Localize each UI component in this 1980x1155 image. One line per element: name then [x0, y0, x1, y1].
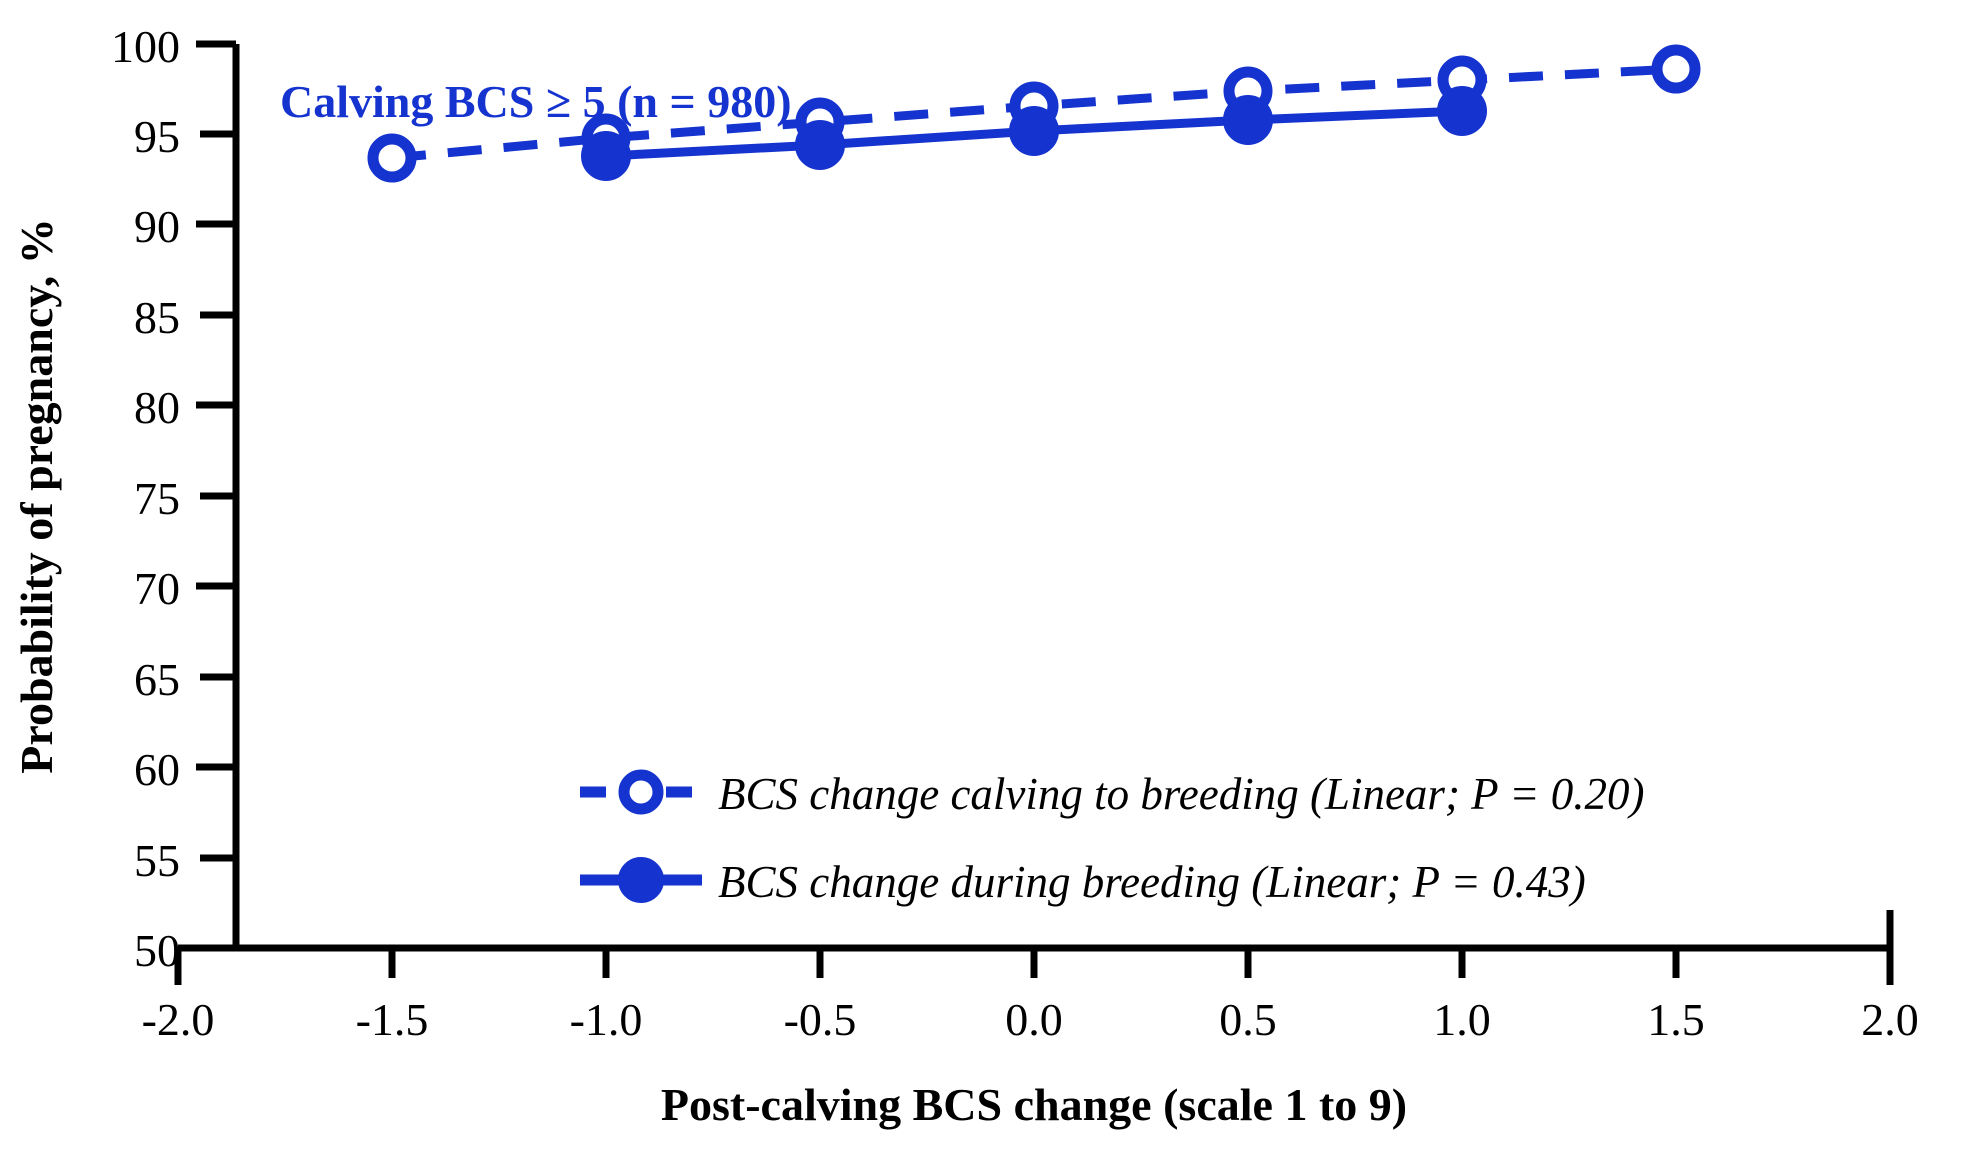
y-tick-label: 50 [134, 925, 180, 976]
x-tick-label: 0.5 [1219, 994, 1277, 1045]
legend-open-circle-icon [624, 775, 658, 809]
y-tick-label: 100 [111, 21, 180, 72]
y-tick-label: 70 [134, 563, 180, 614]
x-axis-ticks [178, 948, 1890, 985]
y-tick-label: 75 [134, 473, 180, 524]
legend-filled-circle-icon [621, 860, 661, 900]
panel-title: Calving BCS ≥ 5 (n = 980) [280, 76, 792, 127]
x-tick-label: -0.5 [784, 994, 857, 1045]
x-tick-label: -1.5 [356, 994, 429, 1045]
chart-legend: BCS change calving to breeding (Linear; … [580, 769, 1644, 907]
x-tick-label: -1.0 [570, 994, 643, 1045]
legend-item-calving-to-breeding[interactable]: BCS change calving to breeding (Linear; … [580, 769, 1644, 819]
y-tick-label: 90 [134, 201, 180, 252]
line-chart-canvas: 100 95 90 85 80 75 70 65 60 55 50 -2.0 -… [0, 0, 1980, 1155]
x-tick-label: 1.0 [1433, 994, 1491, 1045]
y-tick-label: 85 [134, 292, 180, 343]
x-axis-title: Post-calving BCS change (scale 1 to 9) [661, 1079, 1407, 1130]
y-tick-label: 80 [134, 382, 180, 433]
x-tick-label: -2.0 [142, 994, 215, 1045]
y-axis-ticks [196, 44, 236, 948]
y-tick-label: 95 [134, 111, 180, 162]
y-tick-labels: 100 95 90 85 80 75 70 65 60 55 50 [111, 21, 180, 976]
x-tick-label: 2.0 [1861, 994, 1919, 1045]
chart-figure: 100 95 90 85 80 75 70 65 60 55 50 -2.0 -… [0, 0, 1980, 1155]
y-tick-label: 65 [134, 654, 180, 705]
y-axis-title: Probability of pregnancy, % [11, 218, 62, 773]
x-tick-label: 0.0 [1005, 994, 1063, 1045]
y-tick-label: 60 [134, 744, 180, 795]
legend-item-label: BCS change during breeding (Linear; P = … [718, 857, 1586, 907]
x-tick-labels: -2.0 -1.5 -1.0 -0.5 0.0 0.5 1.0 1.5 2.0 [142, 994, 1919, 1045]
y-tick-label: 55 [134, 835, 180, 886]
legend-item-during-breeding[interactable]: BCS change during breeding (Linear; P = … [580, 857, 1586, 907]
x-tick-label: 1.5 [1647, 994, 1705, 1045]
legend-item-label: BCS change calving to breeding (Linear; … [718, 769, 1644, 819]
